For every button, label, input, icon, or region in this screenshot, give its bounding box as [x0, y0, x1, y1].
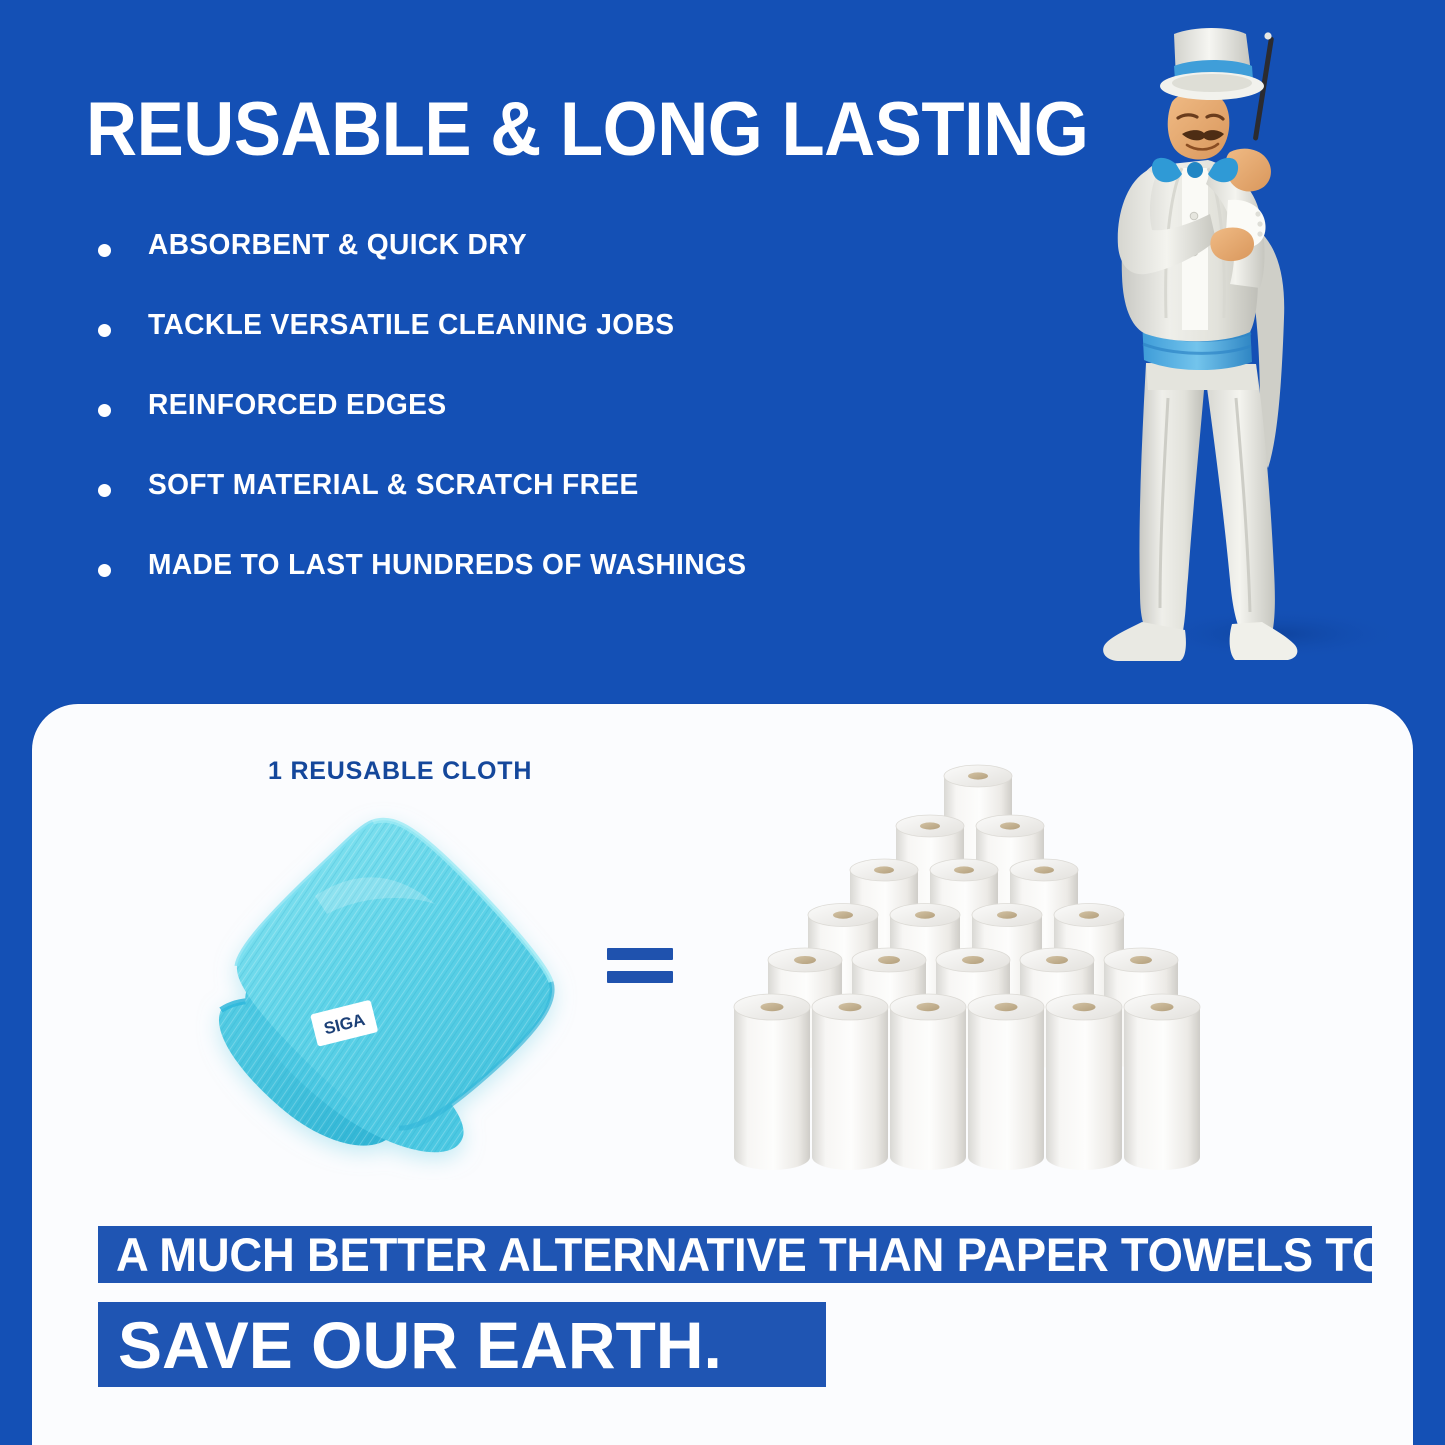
feature-label: REINFORCED EDGES [148, 382, 446, 428]
feature-label: SOFT MATERIAL & SCRATCH FREE [148, 462, 639, 508]
paper-towel-roll-pyramid-image [712, 752, 1212, 1200]
list-item: REINFORCED EDGES [98, 382, 998, 462]
cleaning-mascot-gentleman-icon [1090, 18, 1420, 678]
callout-banner-line2: SAVE OUR EARTH. [98, 1302, 826, 1387]
cloth-quantity-label: 1 REUSABLE CLOTH [268, 757, 532, 786]
feature-label: TACKLE VERSATILE CLEANING JOBS [148, 302, 674, 348]
callout-text-line1: A MUCH BETTER ALTERNATIVE THAN PAPER TOW… [116, 1227, 1372, 1282]
list-item: MADE TO LAST HUNDREDS OF WASHINGS [98, 542, 998, 622]
bullet-dot-icon [98, 564, 111, 577]
bullet-dot-icon [98, 404, 111, 417]
bullet-dot-icon [98, 324, 111, 337]
list-item: TACKLE VERSATILE CLEANING JOBS [98, 302, 998, 382]
feature-label: MADE TO LAST HUNDREDS OF WASHINGS [148, 542, 746, 588]
infographic-root: REUSABLE & LONG LASTING ABSORBENT & QUIC… [0, 0, 1445, 1445]
equals-sign-icon [607, 948, 673, 988]
bullet-dot-icon [98, 244, 111, 257]
callout-text-line2: SAVE OUR EARTH. [118, 1307, 722, 1383]
bullet-dot-icon [98, 484, 111, 497]
list-item: SOFT MATERIAL & SCRATCH FREE [98, 462, 998, 542]
page-title: REUSABLE & LONG LASTING [86, 92, 1088, 168]
feature-list: ABSORBENT & QUICK DRY TACKLE VERSATILE C… [98, 222, 998, 622]
equals-bar-top [607, 948, 673, 960]
equals-bar-bottom [607, 971, 673, 983]
microfiber-cloth-image: SIGA [195, 800, 595, 1180]
callout-banner-line1: A MUCH BETTER ALTERNATIVE THAN PAPER TOW… [98, 1226, 1372, 1283]
feature-label: ABSORBENT & QUICK DRY [148, 222, 527, 268]
list-item: ABSORBENT & QUICK DRY [98, 222, 998, 302]
